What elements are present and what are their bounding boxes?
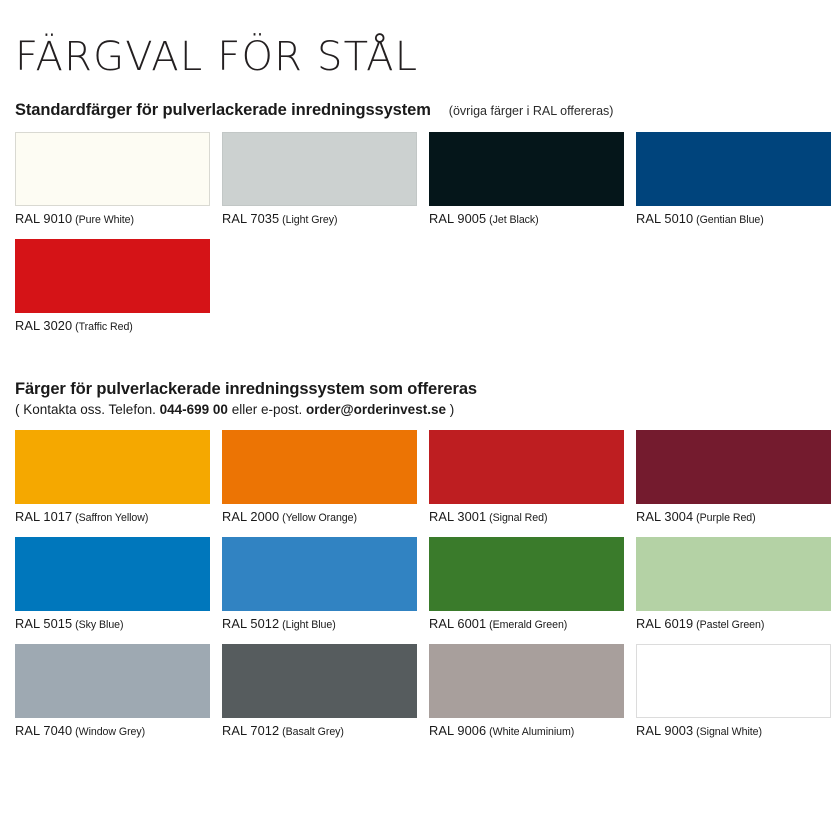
swatch-label: RAL 5012 (Light Blue) [222, 616, 417, 632]
swatch-color-name: (Pure White) [72, 214, 134, 226]
swatch-cell[interactable]: RAL 7035 (Light Grey) [222, 132, 417, 227]
swatch-color-name: (Window Grey) [72, 726, 145, 738]
swatch-color-chip[interactable] [15, 132, 210, 206]
swatch-ral-code: RAL 6019 [636, 616, 693, 631]
standard-section-note: (övriga färger i RAL offereras) [449, 104, 614, 118]
swatch-cell[interactable]: RAL 6001 (Emerald Green) [429, 537, 624, 632]
offered-swatch-grid: RAL 1017 (Saffron Yellow)RAL 2000 (Yello… [15, 430, 830, 751]
swatch-color-chip[interactable] [222, 644, 417, 718]
swatch-cell[interactable]: RAL 3001 (Signal Red) [429, 430, 624, 525]
swatch-cell[interactable]: RAL 5015 (Sky Blue) [15, 537, 210, 632]
swatch-color-name: (Traffic Red) [72, 321, 133, 333]
swatch-color-chip[interactable] [636, 644, 831, 718]
section-standard-colors: Standardfärger för pulverlackerade inred… [10, 101, 830, 346]
swatch-label: RAL 6019 (Pastel Green) [636, 616, 831, 632]
contact-prefix: ( Kontakta oss. Telefon. [15, 402, 156, 417]
swatch-ral-code: RAL 9003 [636, 723, 693, 738]
swatch-label: RAL 7035 (Light Grey) [222, 211, 417, 227]
swatch-cell[interactable]: RAL 9003 (Signal White) [636, 644, 831, 739]
swatch-cell[interactable]: RAL 7012 (Basalt Grey) [222, 644, 417, 739]
standard-swatch-grid: RAL 9010 (Pure White)RAL 7035 (Light Gre… [15, 132, 830, 346]
swatch-color-chip[interactable] [222, 537, 417, 611]
swatch-ral-code: RAL 3020 [15, 318, 72, 333]
swatch-cell[interactable]: RAL 1017 (Saffron Yellow) [15, 430, 210, 525]
swatch-label: RAL 9005 (Jet Black) [429, 211, 624, 227]
swatch-color-chip[interactable] [429, 430, 624, 504]
swatch-label: RAL 9003 (Signal White) [636, 723, 831, 739]
swatch-color-chip[interactable] [636, 132, 831, 206]
swatch-color-chip[interactable] [222, 430, 417, 504]
swatch-label: RAL 9006 (White Aluminium) [429, 723, 624, 739]
swatch-cell[interactable]: RAL 9006 (White Aluminium) [429, 644, 624, 739]
swatch-ral-code: RAL 9010 [15, 211, 72, 226]
swatch-label: RAL 5015 (Sky Blue) [15, 616, 210, 632]
standard-section-header: Standardfärger för pulverlackerade inred… [15, 101, 830, 120]
swatch-color-chip[interactable] [15, 430, 210, 504]
swatch-color-name: (Signal White) [693, 726, 762, 738]
swatch-color-name: (Sky Blue) [72, 619, 123, 631]
swatch-label: RAL 3004 (Purple Red) [636, 509, 831, 525]
swatch-color-name: (Gentian Blue) [693, 214, 764, 226]
swatch-color-name: (Light Grey) [279, 214, 337, 226]
swatch-ral-code: RAL 7035 [222, 211, 279, 226]
page-title: FÄRGVAL FÖR STÅL [10, 0, 830, 79]
swatch-ral-code: RAL 1017 [15, 509, 72, 524]
offered-section-heading: Färger för pulverlackerade inredningssys… [15, 380, 477, 399]
swatch-cell[interactable]: RAL 7040 (Window Grey) [15, 644, 210, 739]
color-chart-page: FÄRGVAL FÖR STÅL Standardfärger för pulv… [0, 0, 840, 840]
offered-section-header: Färger för pulverlackerade inredningssys… [15, 380, 830, 399]
swatch-color-name: (Signal Red) [486, 512, 547, 524]
contact-middle: eller e-post. [232, 402, 303, 417]
swatch-ral-code: RAL 2000 [222, 509, 279, 524]
swatch-label: RAL 5010 (Gentian Blue) [636, 211, 831, 227]
standard-section-heading: Standardfärger för pulverlackerade inred… [15, 101, 431, 120]
swatch-color-chip[interactable] [15, 239, 210, 313]
swatch-color-name: (Saffron Yellow) [72, 512, 148, 524]
swatch-ral-code: RAL 7040 [15, 723, 72, 738]
swatch-cell[interactable]: RAL 9010 (Pure White) [15, 132, 210, 227]
swatch-color-chip[interactable] [429, 132, 624, 206]
swatch-label: RAL 7012 (Basalt Grey) [222, 723, 417, 739]
swatch-color-name: (Purple Red) [693, 512, 755, 524]
contact-email[interactable]: order@orderinvest.se [306, 402, 446, 417]
swatch-label: RAL 2000 (Yellow Orange) [222, 509, 417, 525]
swatch-cell[interactable]: RAL 6019 (Pastel Green) [636, 537, 831, 632]
swatch-cell[interactable]: RAL 5012 (Light Blue) [222, 537, 417, 632]
swatch-color-chip[interactable] [429, 644, 624, 718]
contact-suffix: ) [450, 402, 455, 417]
swatch-color-chip[interactable] [636, 430, 831, 504]
swatch-ral-code: RAL 5015 [15, 616, 72, 631]
swatch-color-name: (Basalt Grey) [279, 726, 344, 738]
swatch-color-chip[interactable] [15, 644, 210, 718]
swatch-label: RAL 9010 (Pure White) [15, 211, 210, 227]
contact-line: ( Kontakta oss. Telefon. 044-699 00 elle… [15, 402, 830, 417]
swatch-cell[interactable]: RAL 3020 (Traffic Red) [15, 239, 210, 334]
swatch-color-chip[interactable] [636, 537, 831, 611]
swatch-label: RAL 7040 (Window Grey) [15, 723, 210, 739]
swatch-ral-code: RAL 9005 [429, 211, 486, 226]
swatch-label: RAL 3020 (Traffic Red) [15, 318, 210, 334]
swatch-label: RAL 6001 (Emerald Green) [429, 616, 624, 632]
swatch-label: RAL 3001 (Signal Red) [429, 509, 624, 525]
swatch-cell[interactable]: RAL 3004 (Purple Red) [636, 430, 831, 525]
swatch-color-name: (Emerald Green) [486, 619, 567, 631]
swatch-color-name: (Light Blue) [279, 619, 335, 631]
swatch-color-name: (Yellow Orange) [279, 512, 357, 524]
swatch-color-chip[interactable] [429, 537, 624, 611]
swatch-color-chip[interactable] [222, 132, 417, 206]
swatch-cell[interactable]: RAL 2000 (Yellow Orange) [222, 430, 417, 525]
section-offered-colors: Färger för pulverlackerade inredningssys… [10, 380, 830, 751]
swatch-ral-code: RAL 3004 [636, 509, 693, 524]
swatch-color-name: (White Aluminium) [486, 726, 574, 738]
contact-phone: 044-699 00 [160, 402, 228, 417]
swatch-ral-code: RAL 5012 [222, 616, 279, 631]
swatch-ral-code: RAL 9006 [429, 723, 486, 738]
swatch-color-chip[interactable] [15, 537, 210, 611]
swatch-label: RAL 1017 (Saffron Yellow) [15, 509, 210, 525]
swatch-ral-code: RAL 3001 [429, 509, 486, 524]
swatch-color-name: (Jet Black) [486, 214, 538, 226]
swatch-color-name: (Pastel Green) [693, 619, 764, 631]
swatch-ral-code: RAL 5010 [636, 211, 693, 226]
swatch-ral-code: RAL 7012 [222, 723, 279, 738]
swatch-cell[interactable]: RAL 5010 (Gentian Blue) [636, 132, 831, 227]
swatch-ral-code: RAL 6001 [429, 616, 486, 631]
swatch-cell[interactable]: RAL 9005 (Jet Black) [429, 132, 624, 227]
